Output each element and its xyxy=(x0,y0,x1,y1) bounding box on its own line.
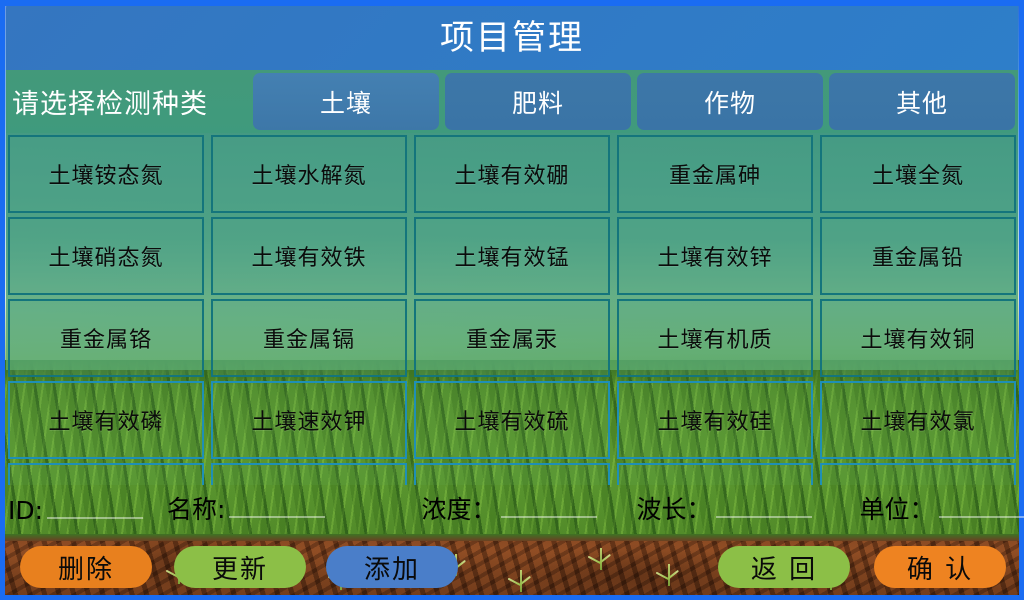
field-wavelength: 波长： xyxy=(637,490,812,526)
grid-item[interactable]: 土壤有效硫 xyxy=(414,381,610,459)
grid-item[interactable]: 重金属铬 xyxy=(8,299,204,377)
grid-item[interactable]: 单质肥铵态氮 xyxy=(414,463,610,485)
grid-item[interactable]: 土壤全氮 xyxy=(820,135,1016,213)
field-name-value[interactable] xyxy=(229,490,325,518)
field-concentration-label: 浓度： xyxy=(421,490,496,526)
tab-crop[interactable]: 作物 xyxy=(637,73,823,130)
grid-item[interactable]: 土壤有效锌 xyxy=(617,217,813,295)
tab-other[interactable]: 其他 xyxy=(829,73,1015,130)
grid-item[interactable]: 土壤铵态氮 xyxy=(8,135,204,213)
grid-item[interactable]: 土壤水解氮 xyxy=(211,135,407,213)
detection-item-grid: 土壤铵态氮 土壤水解氮 土壤有效硼 重金属砷 土壤全氮 土壤硝态氮 土壤有效铁 … xyxy=(6,135,1018,485)
back-button[interactable]: 返 回 xyxy=(718,546,850,588)
grid-item[interactable]: 土壤有效硅 xyxy=(617,381,813,459)
grid-item[interactable]: 土壤有效磷 xyxy=(8,381,204,459)
grid-item[interactable]: 土壤速效钾 xyxy=(211,381,407,459)
field-name-label: 名称: xyxy=(167,490,225,526)
field-concentration: 浓度： xyxy=(421,490,596,526)
field-id-label: ID: xyxy=(8,496,43,525)
page-title: 项目管理 xyxy=(440,21,584,55)
category-prompt-label: 请选择检测种类 xyxy=(6,70,250,133)
update-button[interactable]: 更新 xyxy=(174,546,306,588)
confirm-button[interactable]: 确 认 xyxy=(874,546,1006,588)
field-unit: 单位： xyxy=(860,490,1024,526)
grid-item[interactable]: 单质肥水溶性磷 xyxy=(820,463,1016,485)
field-concentration-value[interactable] xyxy=(501,490,597,518)
grid-item[interactable]: 土壤硝态氮 xyxy=(8,217,204,295)
detail-form-bar: ID: 名称: 浓度： 波长： 单位： xyxy=(6,485,1018,530)
tab-soil[interactable]: 土壤 xyxy=(253,73,439,130)
grid-item[interactable]: 重金属砷 xyxy=(617,135,813,213)
grid-item[interactable]: 重金属铅 xyxy=(820,217,1016,295)
grid-item[interactable]: 重金属镉 xyxy=(211,299,407,377)
field-wavelength-value[interactable] xyxy=(716,490,812,518)
grid-item[interactable]: 土壤有效锰 xyxy=(414,217,610,295)
tab-fertilizer[interactable]: 肥料 xyxy=(445,73,631,130)
field-wavelength-label: 波长： xyxy=(637,490,712,526)
category-tab-strip: 请选择检测种类 土壤 肥料 作物 其他 xyxy=(6,70,1018,133)
grid-item[interactable]: 重金属汞 xyxy=(414,299,610,377)
field-id: ID: xyxy=(8,491,143,525)
grid-item[interactable]: 土壤有效铜 xyxy=(820,299,1016,377)
grid-item[interactable]: 土壤全磷 xyxy=(8,463,204,485)
add-button[interactable]: 添加 xyxy=(326,546,458,588)
grid-item[interactable]: 土壤全钾 xyxy=(211,463,407,485)
grid-item[interactable]: 土壤有效铁 xyxy=(211,217,407,295)
field-name: 名称: xyxy=(167,490,325,526)
field-unit-value[interactable] xyxy=(939,490,1024,518)
grid-item[interactable]: 土壤有效氯 xyxy=(820,381,1016,459)
grid-item[interactable]: 土壤有机质 xyxy=(617,299,813,377)
app-window: 项目管理 请选择检测种类 土壤 肥料 作物 其他 土壤铵态氮 土壤水解氮 土壤有… xyxy=(0,0,1024,600)
field-id-value[interactable] xyxy=(47,491,143,519)
grid-item[interactable]: 单质肥有效磷 xyxy=(617,463,813,485)
field-unit-label: 单位： xyxy=(860,490,935,526)
action-bar: 删除 更新 添加 返 回 确 认 xyxy=(6,541,1018,593)
grid-item[interactable]: 土壤有效硼 xyxy=(414,135,610,213)
title-bar: 项目管理 xyxy=(6,6,1018,70)
delete-button[interactable]: 删除 xyxy=(20,546,152,588)
